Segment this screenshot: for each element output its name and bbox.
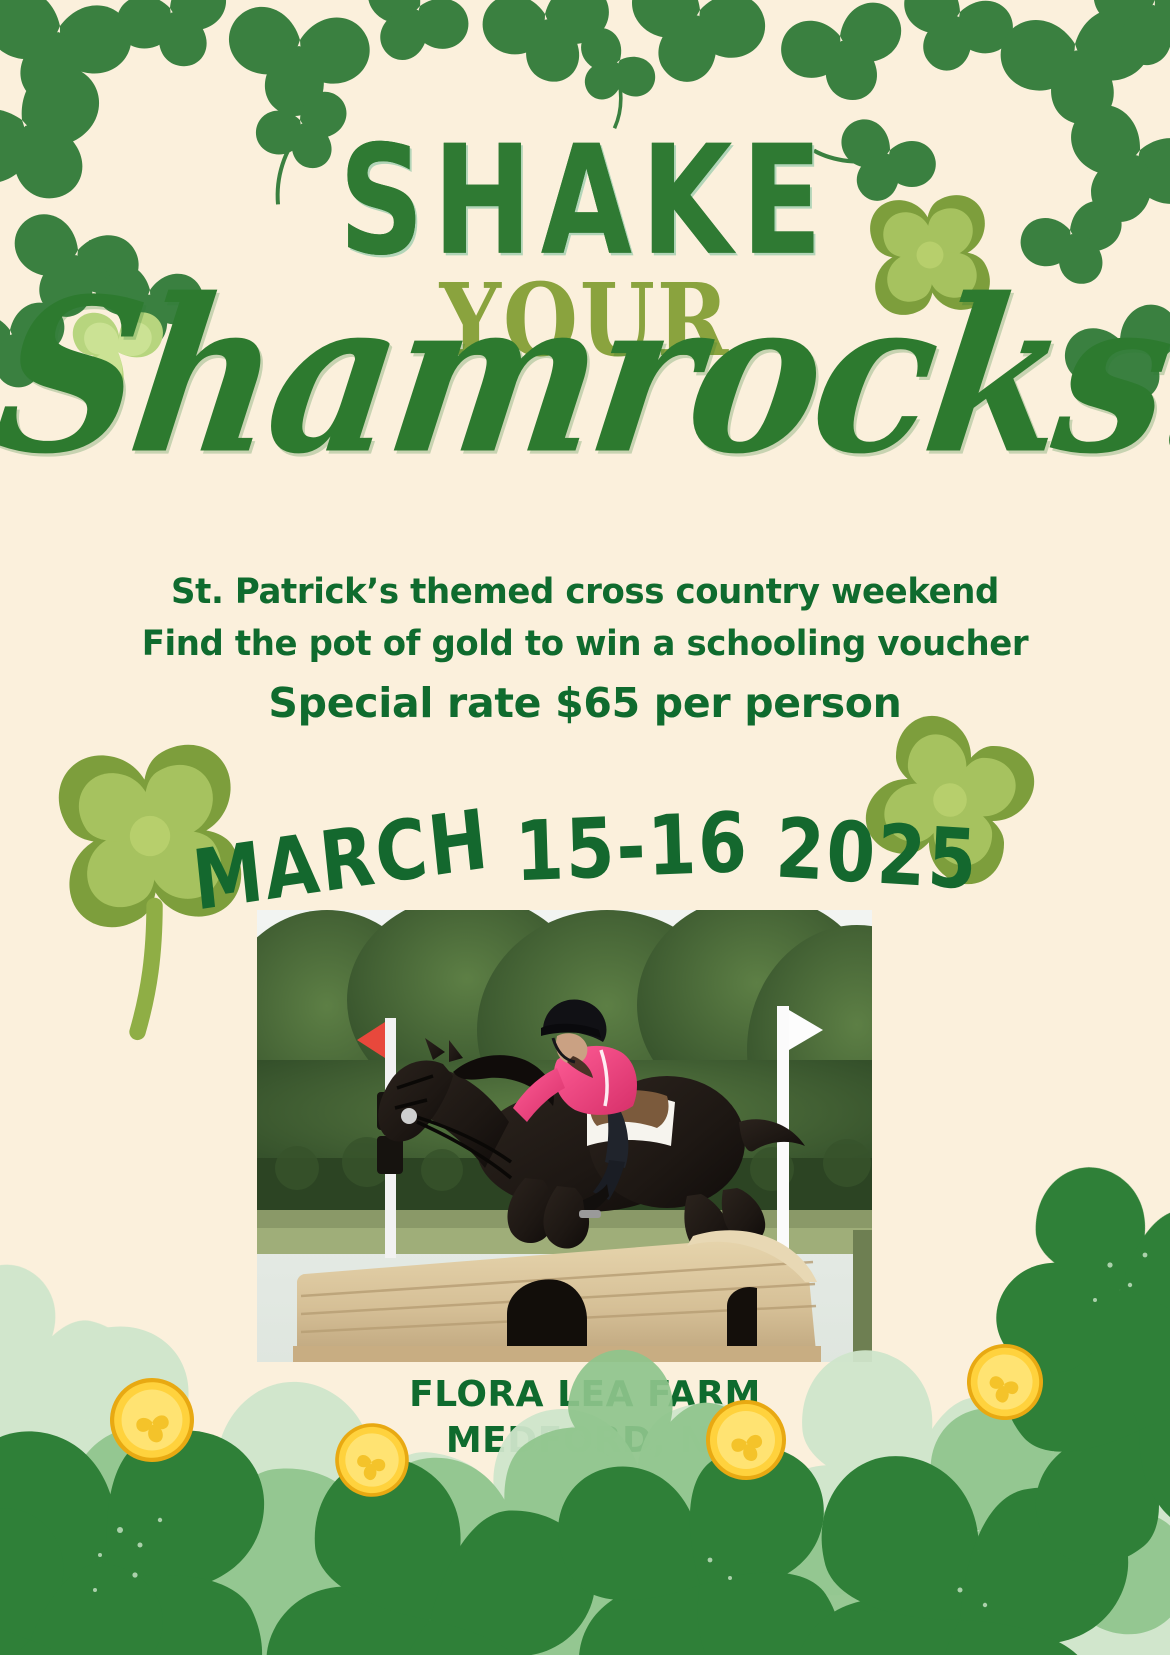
cross-country-photo — [257, 910, 872, 1362]
venue-location: MEDFORD, NJ — [0, 1418, 1170, 1464]
description-line-1: St. Patrick’s themed cross country weeke… — [18, 566, 1153, 618]
description-line-2: Find the pot of gold to win a schooling … — [18, 618, 1153, 670]
title-line-shamrocks: Shamrocks! — [0, 253, 1170, 501]
venue-block: FLORA LEA FARM MEDFORD, NJ — [0, 1372, 1170, 1464]
date-days: 15-16 — [514, 794, 751, 900]
venue-name: FLORA LEA FARM — [0, 1372, 1170, 1418]
price-line: Special rate $65 per person — [0, 670, 1170, 736]
date-month: MARCH — [189, 791, 494, 930]
date-year: 2025 — [773, 800, 980, 909]
poster-canvas: SHAKE YOUR Shamrocks! St. Patrick’s them… — [0, 0, 1170, 1655]
event-description: St. Patrick’s themed cross country weeke… — [0, 566, 1170, 736]
title-block: SHAKE YOUR Shamrocks! — [0, 112, 1170, 532]
event-date: MARCH 15-16 2025 — [0, 800, 1170, 897]
